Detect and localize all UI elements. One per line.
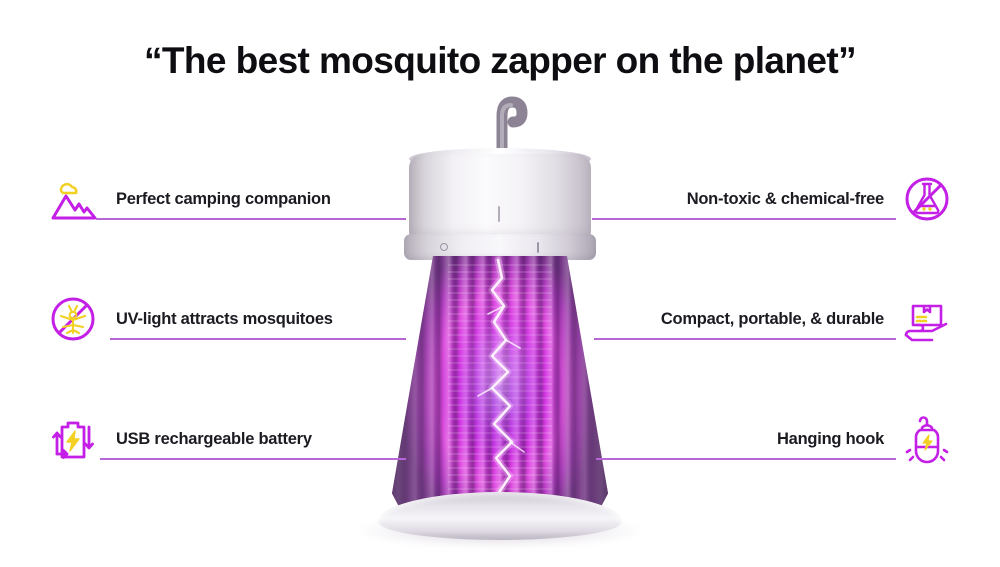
feature-label: Perfect camping companion <box>102 190 410 209</box>
feature-hanging-hook: Hanging hook <box>590 408 956 470</box>
infographic-page: “The best mosquito zapper on the planet” <box>0 0 1000 567</box>
feature-perfect-camping-companion: Perfect camping companion <box>44 168 410 230</box>
connector-line-left-3 <box>100 458 406 460</box>
mode-indicator-icon <box>537 242 539 253</box>
feature-label: Compact, portable, & durable <box>590 310 898 329</box>
connector-line-left-2 <box>110 338 406 340</box>
feature-label: Non-toxic & chemical-free <box>590 190 898 209</box>
hanging-lantern-icon <box>898 410 956 468</box>
connector-line-left-1 <box>96 218 406 220</box>
no-mosquito-icon <box>44 290 102 348</box>
uv-light-cage <box>392 256 608 514</box>
power-indicator-icon <box>440 243 448 251</box>
page-title: “The best mosquito zapper on the planet” <box>0 40 1000 82</box>
feature-usb-rechargeable-battery: USB rechargeable battery <box>44 408 410 470</box>
connector-line-right-3 <box>596 458 896 460</box>
rechargeable-battery-icon <box>44 410 102 468</box>
feature-label: UV-light attracts mosquitoes <box>102 310 410 329</box>
mountain-cloud-icon <box>44 170 102 228</box>
lamp-cap <box>409 154 591 240</box>
feature-non-toxic-chemical-free: Non-toxic & chemical-free <box>590 168 956 230</box>
electric-arc-icon <box>392 256 608 514</box>
hand-holding-box-icon <box>898 290 956 348</box>
feature-label: USB rechargeable battery <box>102 430 410 449</box>
feature-label: Hanging hook <box>590 430 898 449</box>
connector-line-right-1 <box>592 218 896 220</box>
cap-indicator-tick <box>498 206 500 222</box>
feature-compact-portable-durable: Compact, portable, & durable <box>590 288 956 350</box>
feature-uv-light-attracts-mosquitoes: UV-light attracts mosquitoes <box>44 288 410 350</box>
connector-line-right-2 <box>594 338 896 340</box>
no-chemical-flask-icon <box>898 170 956 228</box>
